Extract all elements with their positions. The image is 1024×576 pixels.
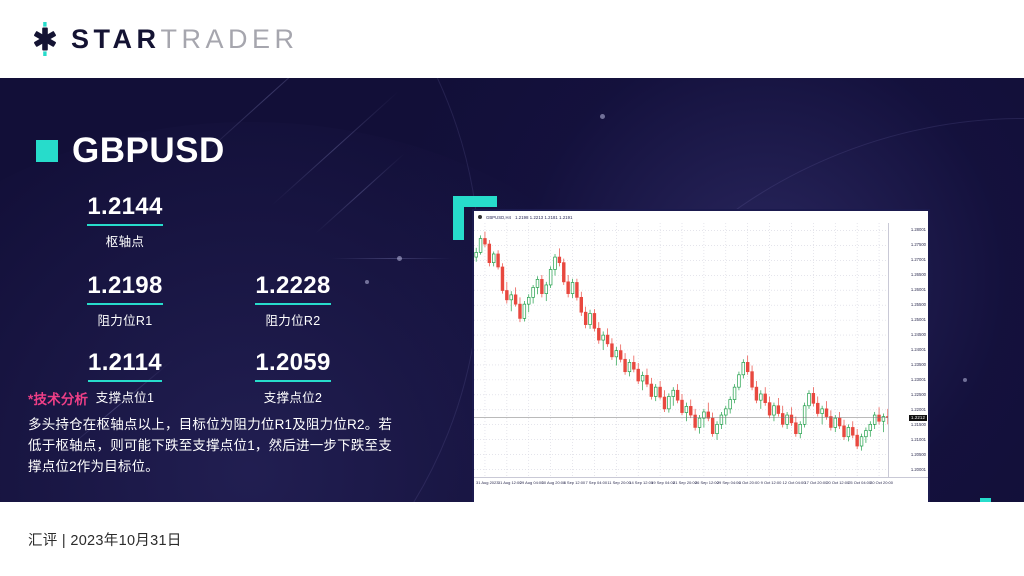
bracket-tl-vertical (453, 196, 464, 240)
time-tick-label: 29 Sep 04:00 (717, 481, 741, 485)
time-tick-label: 11 Sep 20:00 (607, 481, 631, 485)
brand-name-light: TRADER (161, 24, 299, 54)
level-r1-value: 1.2198 (87, 272, 162, 305)
pivot-row: 1.2144 枢轴点 (36, 193, 366, 250)
level-r2-label: 阻力位R2 (228, 310, 358, 329)
asterisk-star-icon (28, 22, 62, 56)
price-tick-label: 1.23001 (911, 378, 926, 382)
time-tick-label: 17 Oct 20:00 (804, 481, 827, 485)
time-axis: 31 Aug 202331 Aug 12:0029 Aug 04:0030 Au… (474, 477, 928, 491)
price-tick-label: 1.25001 (911, 318, 926, 322)
price-tick-label: 1.27500 (911, 243, 926, 247)
time-tick-label: 25 Oct 04:00 (848, 481, 871, 485)
chart-symbol-dot-icon (478, 215, 482, 219)
level-pivot: 1.2144 枢轴点 (60, 193, 190, 250)
price-tick-label: 1.20500 (911, 453, 926, 457)
page-title: GBPUSD (72, 133, 225, 168)
time-tick-label: 4 Sep 12:00 (564, 481, 586, 485)
chart-ohlc-label: 1.2198 1.2213 1.2181 1.2191 (515, 215, 572, 220)
time-tick-label: 19 Sep 04:00 (651, 481, 675, 485)
time-tick-label: 7 Sep 04:00 (585, 481, 607, 485)
chart-window[interactable]: GBPUSD,H4 1.2198 1.2213 1.2181 1.2191 1.… (472, 209, 930, 502)
level-s1-value: 1.2114 (88, 349, 162, 382)
candlestick-series (474, 223, 888, 477)
price-tick-label: 1.21001 (911, 438, 926, 442)
level-pivot-label: 枢轴点 (60, 231, 190, 250)
title-accent-square (36, 140, 58, 162)
price-tick-label: 1.23500 (911, 363, 926, 367)
pivot-levels: 1.2144 枢轴点 1.2198 阻力位R1 1.2228 阻力位R2 (36, 193, 366, 406)
chart-symbol-label: GBPUSD,H4 (486, 215, 511, 220)
bg-dot-3 (600, 114, 605, 119)
slide-root: STARTRADER GBPUSD (0, 0, 1024, 576)
technical-analysis: *技术分析 多头持仓在枢轴点以上，目标位为阻力位R1及阻力位R2。若低于枢轴点，… (28, 388, 403, 478)
price-tick-label: 1.28001 (911, 228, 926, 232)
price-tick-label: 1.20001 (911, 468, 926, 472)
price-axis: 1.280011.275001.270011.265001.260011.255… (888, 223, 928, 491)
level-r1-label: 阻力位R1 (60, 310, 190, 329)
resistance-row: 1.2198 阻力位R1 1.2228 阻力位R2 (36, 272, 366, 329)
price-tick-label: 1.26001 (911, 288, 926, 292)
footer-caption: 汇评 | 2023年10月31日 (28, 529, 182, 550)
page-header: STARTRADER (0, 0, 1024, 78)
price-tick-label: 1.24500 (911, 333, 926, 337)
chart-plot-area[interactable] (474, 223, 888, 491)
time-tick-label: 31 Aug 12:00 (498, 481, 522, 485)
price-tick-label: 1.26500 (911, 273, 926, 277)
time-tick-label: 30 Oct 20:00 (870, 481, 893, 485)
level-r2: 1.2228 阻力位R2 (228, 272, 358, 329)
content-stage: GBPUSD 1.2144 枢轴点 1.2198 阻力位R1 1.2228 (0, 78, 1024, 502)
price-tick-label: 1.22500 (911, 393, 926, 397)
time-tick-label: 14 Sep 12:00 (629, 481, 653, 485)
brand-name-bold: STAR (71, 24, 161, 54)
time-tick-label: 20 Oct 12:00 (826, 481, 849, 485)
left-panel: GBPUSD 1.2144 枢轴点 1.2198 阻力位R1 1.2228 (0, 78, 430, 502)
time-tick-label: 31 Aug 2023 (476, 481, 498, 485)
time-tick-label: 9 Oct 12:00 (761, 481, 782, 485)
chart-body[interactable]: 1.280011.275001.270011.265001.260011.255… (474, 223, 928, 491)
time-tick-label: 4 Oct 20:00 (739, 481, 760, 485)
price-tick-label: 1.25500 (911, 303, 926, 307)
brand-wordmark: STARTRADER (71, 26, 299, 53)
price-tick-label: 1.21500 (911, 423, 926, 427)
bg-dot-4 (963, 378, 967, 382)
level-s2-value: 1.2059 (255, 349, 330, 382)
analysis-heading: *技术分析 (28, 388, 403, 408)
time-tick-label: 26 Sep 12:00 (695, 481, 719, 485)
price-tick-label: 1.24001 (911, 348, 926, 352)
time-tick-label: 21 Sep 20:00 (673, 481, 697, 485)
level-pivot-value: 1.2144 (87, 193, 162, 226)
price-tick-label: 1.22001 (911, 408, 926, 412)
time-tick-label: 12 Oct 04:00 (783, 481, 806, 485)
current-price-tag: 1.2212 (909, 415, 927, 421)
level-r2-value: 1.2228 (255, 272, 330, 305)
instrument-title: GBPUSD (36, 133, 225, 168)
analysis-body: 多头持仓在枢轴点以上，目标位为阻力位R1及阻力位R2。若低于枢轴点，则可能下跌至… (28, 415, 403, 478)
chart-header: GBPUSD,H4 1.2198 1.2213 1.2181 1.2191 (474, 211, 928, 223)
level-r1: 1.2198 阻力位R1 (60, 272, 190, 329)
page-footer: 汇评 | 2023年10月31日 (0, 502, 1024, 576)
time-tick-label: 30 Aug 20:00 (542, 481, 566, 485)
brand-logo: STARTRADER (28, 22, 299, 56)
time-tick-label: 29 Aug 04:00 (520, 481, 544, 485)
price-tick-label: 1.27001 (911, 258, 926, 262)
